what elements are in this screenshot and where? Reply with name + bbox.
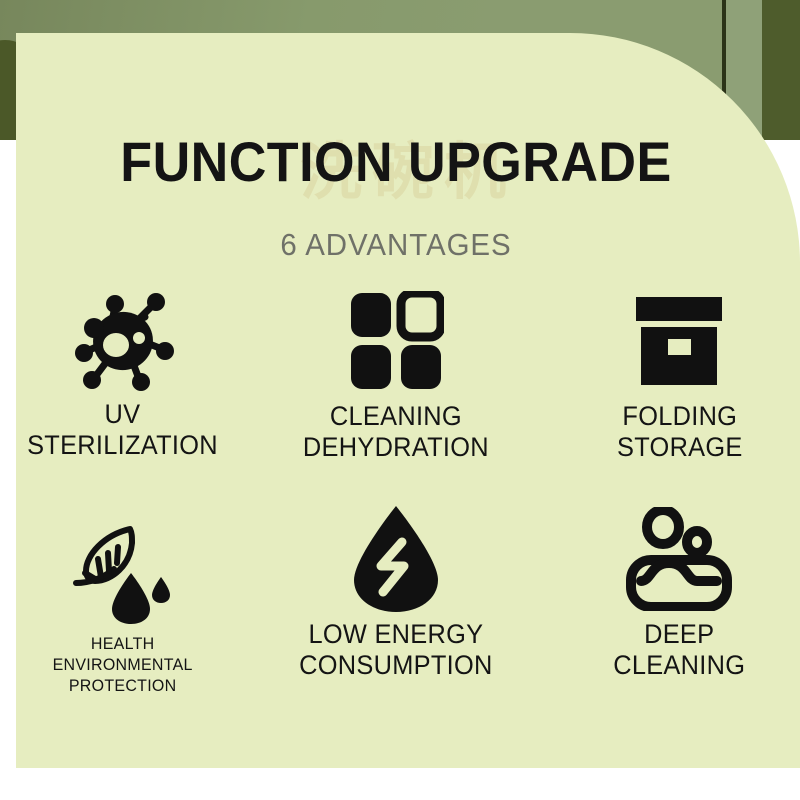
feature-label-line: STORAGE bbox=[617, 432, 743, 463]
poster-root: 洗碗机 FUNCTION UPGRADE 6 ADVANTAGES bbox=[0, 0, 800, 800]
feature-label-line: FOLDING bbox=[617, 401, 743, 432]
features-grid: UV STERILIZATION CLEANING DEHYDRATION bbox=[16, 279, 776, 714]
feature-item-uv-sterilization: UV STERILIZATION bbox=[16, 279, 249, 499]
feature-label: CLEANING DEHYDRATION bbox=[303, 401, 489, 463]
feature-label-line: ENVIRONMENTAL PROTECTION bbox=[16, 654, 242, 696]
feature-label: DEEP CLEANING bbox=[613, 619, 745, 681]
feature-label: UV STERILIZATION bbox=[27, 399, 218, 461]
feature-item-low-energy-consumption: LOW ENERGY CONSUMPTION bbox=[269, 499, 522, 714]
leaf-droplet-icon bbox=[68, 513, 178, 633]
storage-box-icon bbox=[630, 281, 728, 401]
droplet-bolt-icon bbox=[350, 499, 442, 619]
virus-icon bbox=[67, 279, 179, 399]
page-title: FUNCTION UPGRADE bbox=[43, 129, 750, 195]
page-subtitle: 6 ADVANTAGES bbox=[35, 225, 757, 265]
feature-item-folding-storage: FOLDING STORAGE bbox=[553, 281, 800, 501]
feature-label-line: CLEANING bbox=[303, 401, 489, 432]
feature-label-line: DEEP bbox=[613, 619, 745, 650]
soap-bubbles-icon bbox=[625, 499, 733, 619]
feature-label: LOW ENERGY CONSUMPTION bbox=[299, 619, 492, 681]
feature-item-deep-cleaning: DEEP CLEANING bbox=[553, 499, 800, 714]
feature-label-line: DEHYDRATION bbox=[303, 432, 489, 463]
content-card: 洗碗机 FUNCTION UPGRADE 6 ADVANTAGES bbox=[16, 33, 800, 768]
feature-label-line: UV bbox=[27, 399, 218, 430]
grid-squares-icon bbox=[348, 281, 444, 401]
feature-label-line: LOW ENERGY bbox=[299, 619, 492, 650]
feature-label-line: CONSUMPTION bbox=[299, 650, 492, 681]
feature-label-line: STERILIZATION bbox=[27, 430, 218, 461]
feature-label-line: CLEANING bbox=[613, 650, 745, 681]
feature-label: FOLDING STORAGE bbox=[617, 401, 743, 463]
feature-item-health-environmental-protection: HEALTH ENVIRONMENTAL PROTECTION bbox=[16, 513, 249, 728]
feature-label: HEALTH ENVIRONMENTAL PROTECTION bbox=[16, 633, 242, 696]
feature-label-line: HEALTH bbox=[16, 633, 242, 654]
feature-item-cleaning-dehydration: CLEANING DEHYDRATION bbox=[269, 281, 522, 501]
